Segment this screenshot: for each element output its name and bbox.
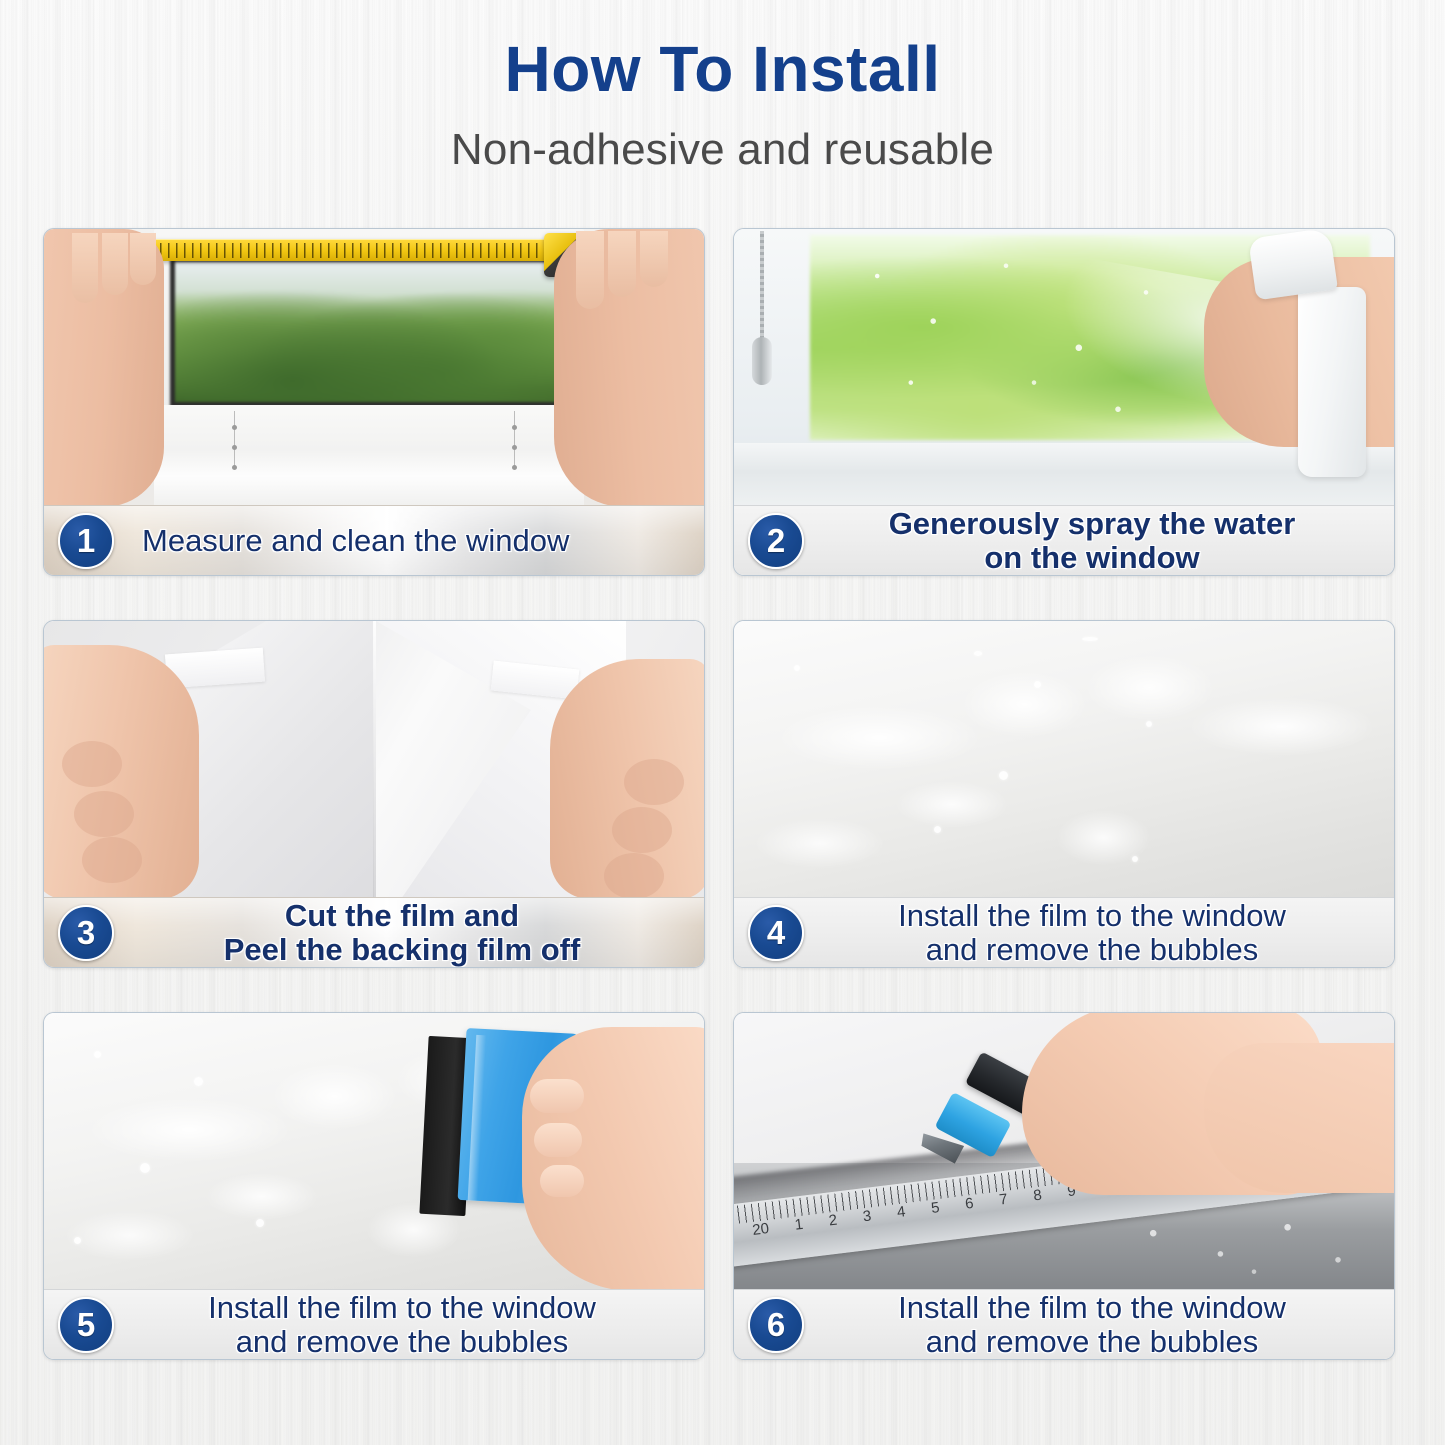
finger [72, 233, 98, 303]
knuckle [82, 837, 142, 883]
water-droplets [1114, 1211, 1394, 1285]
knuckle [74, 791, 134, 837]
water-speck [1132, 856, 1138, 862]
ruler-number: 3 [862, 1207, 873, 1234]
blind-chain [760, 231, 764, 341]
hand-left [44, 645, 199, 899]
step-3-photo [44, 621, 704, 899]
step-2-photo [734, 229, 1394, 507]
ruler-number: 7 [998, 1191, 1009, 1218]
hand-wrist [1204, 1043, 1394, 1193]
step-card-6: 9 20 1 2 3 4 5 6 7 8 9 30 1 2 3 4 5 [733, 1012, 1395, 1360]
blind-cord-right [514, 411, 515, 469]
ruler-number: 5 [930, 1199, 941, 1226]
knuckle [612, 807, 672, 853]
hand-right [554, 229, 704, 507]
water-speck [194, 1077, 203, 1086]
screw-dot [232, 465, 237, 470]
step-4-photo [734, 621, 1394, 899]
window-sill [734, 443, 1394, 507]
screw-dot [232, 445, 237, 450]
ruler-number: 6 [964, 1195, 975, 1222]
step-4-caption-bar: 4 Install the film to the window and rem… [734, 897, 1394, 967]
step-badge-5: 5 [58, 1297, 114, 1353]
knuckle [604, 853, 664, 899]
page-subtitle: Non-adhesive and reusable [0, 125, 1445, 175]
step-6-caption-text: Install the film to the window and remov… [804, 1291, 1394, 1358]
step-1-caption-text: Measure and clean the window [114, 524, 704, 557]
finger [608, 231, 636, 297]
step-5-caption-bar: 5 Install the film to the window and rem… [44, 1289, 704, 1359]
header: How To Install Non-adhesive and reusable [0, 36, 1445, 175]
step-badge-2: 2 [748, 513, 804, 569]
step-card-2: 2 Generously spray the water on the wind… [733, 228, 1395, 576]
water-speck [74, 1237, 81, 1244]
step-1-photo [44, 229, 704, 507]
step-badge-4: 4 [748, 905, 804, 961]
step-badge-3: 3 [58, 905, 114, 961]
step-badge-1: 1 [58, 513, 114, 569]
step-3-caption-text: Cut the film and Peel the backing film o… [114, 899, 704, 966]
window-sill [154, 405, 584, 507]
finger [640, 231, 668, 287]
screw-dot [512, 425, 517, 430]
step-2-caption-text: Generously spray the water on the window [804, 507, 1394, 574]
water-speck [794, 665, 800, 671]
film-fold-line [373, 621, 376, 899]
step-1-caption-bar: 1 Measure and clean the window [44, 505, 704, 575]
finger [576, 231, 604, 309]
step-badge-6: 6 [748, 1297, 804, 1353]
hand-left [44, 229, 164, 507]
finger [540, 1165, 584, 1197]
spray-bottle-body [1298, 287, 1366, 477]
hand-holding-squeegee [522, 1027, 704, 1291]
knuckle [62, 741, 122, 787]
tape-measure-ticks [144, 243, 552, 258]
step-5-photo [44, 1013, 704, 1291]
step-5-caption-text: Install the film to the window and remov… [114, 1291, 704, 1358]
window-glass-trees [170, 257, 570, 407]
water-speck [140, 1163, 150, 1173]
step-3-caption-bar: 3 Cut the film and Peel the backing film… [44, 897, 704, 967]
blind-cord-left [234, 411, 235, 469]
water-speck [934, 826, 941, 833]
screw-dot [512, 445, 517, 450]
step-4-caption-text: Install the film to the window and remov… [804, 899, 1394, 966]
step-card-5: 5 Install the film to the window and rem… [43, 1012, 705, 1360]
steps-grid: 1 Measure and clean the window 2 Generou… [43, 228, 1395, 1360]
step-card-4: 4 Install the film to the window and rem… [733, 620, 1395, 968]
ruler-number: 1 [794, 1216, 805, 1243]
finger [102, 233, 128, 295]
step-6-photo: 9 20 1 2 3 4 5 6 7 8 9 30 1 2 3 4 5 [734, 1013, 1394, 1291]
water-speck [999, 771, 1008, 780]
ruler-number: 4 [896, 1203, 907, 1230]
ruler-number: 20 [751, 1220, 771, 1248]
step-6-caption-bar: 6 Install the film to the window and rem… [734, 1289, 1394, 1359]
tape-measure-blade [138, 239, 558, 261]
water-speck [94, 1051, 101, 1058]
step-card-1: 1 Measure and clean the window [43, 228, 705, 576]
step-2-caption-bar: 2 Generously spray the water on the wind… [734, 505, 1394, 575]
water-speck [974, 651, 982, 656]
ruler-number: 8 [1032, 1187, 1043, 1214]
finger [130, 233, 156, 285]
step-card-3: 3 Cut the film and Peel the backing film… [43, 620, 705, 968]
knuckle [624, 759, 684, 805]
screw-dot [512, 465, 517, 470]
water-speck [1034, 681, 1041, 688]
finger [534, 1123, 582, 1157]
finger [530, 1079, 584, 1113]
water-speck [1082, 637, 1098, 641]
spray-bottle-nozzle [1248, 229, 1338, 300]
water-speck [1146, 721, 1152, 727]
blind-chain-weight [752, 337, 772, 385]
page-title: How To Install [0, 36, 1445, 103]
ruler-number: 2 [828, 1212, 839, 1239]
water-speck [256, 1219, 264, 1227]
hand-right [550, 659, 704, 899]
screw-dot [232, 425, 237, 430]
